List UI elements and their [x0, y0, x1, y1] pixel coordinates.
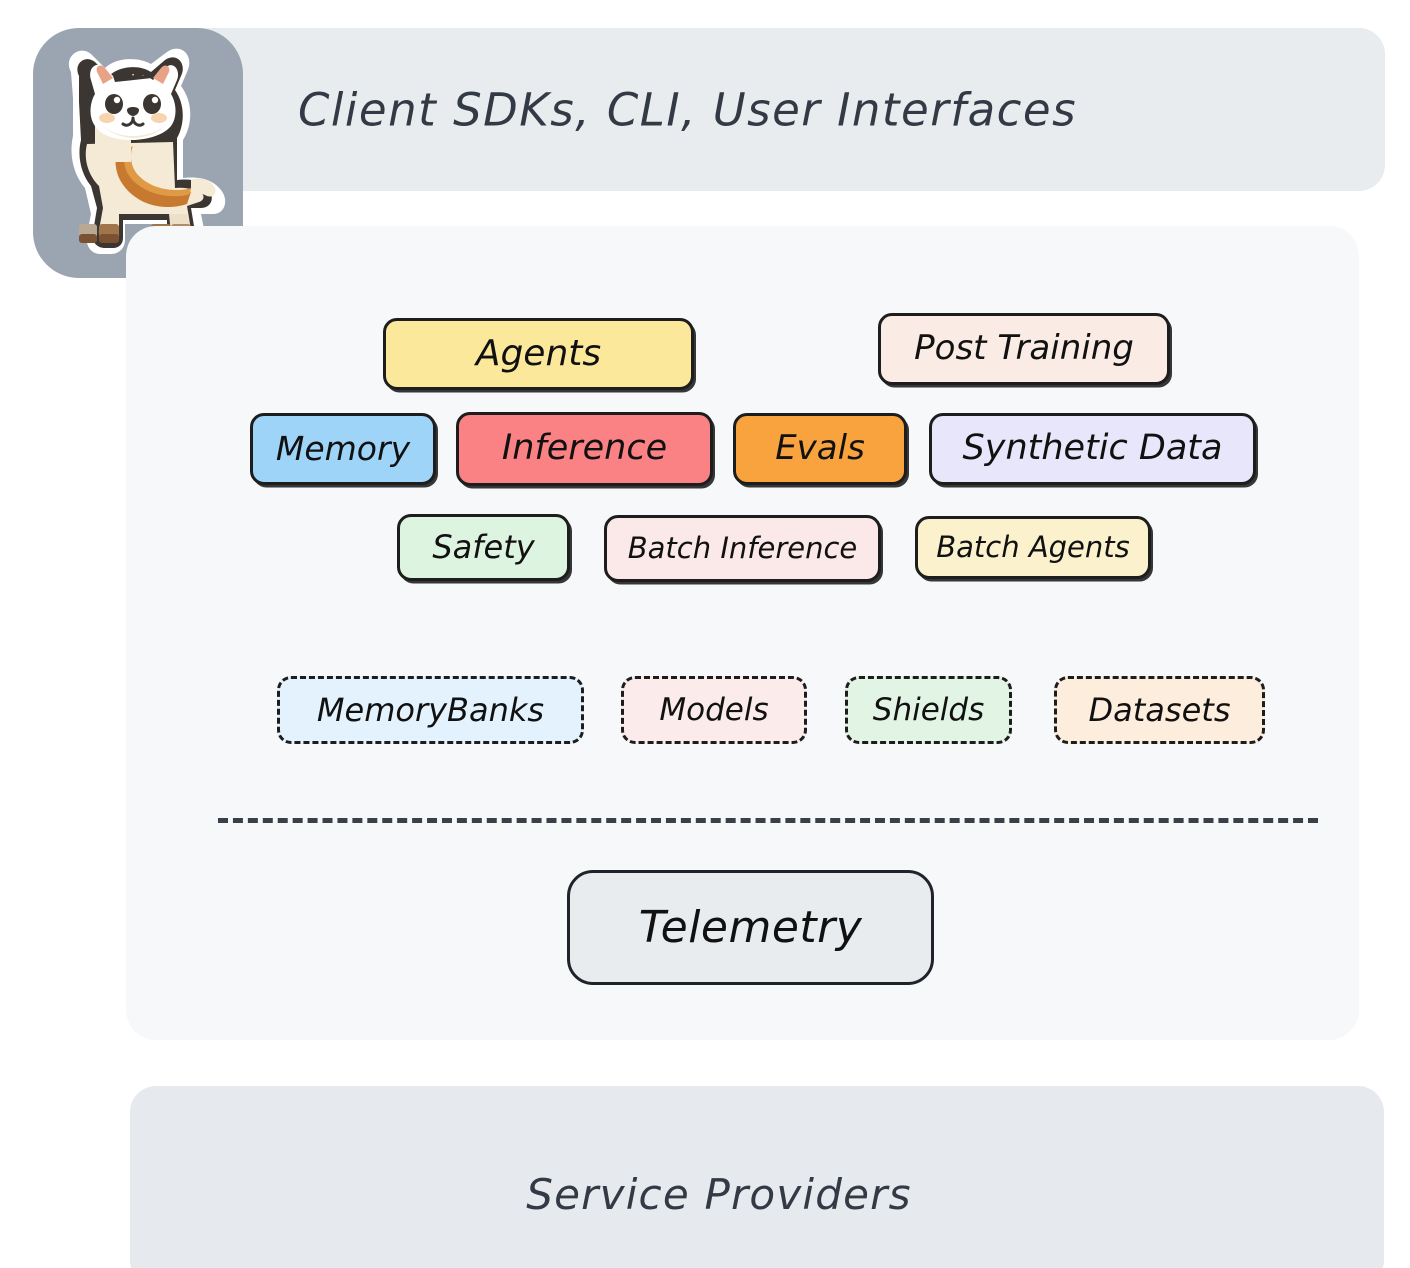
resource-box-shields[interactable]: Shields	[845, 676, 1012, 744]
resource-box-label: Datasets	[1089, 691, 1231, 729]
service-providers-title: Service Providers	[92, 1170, 1346, 1219]
api-box-batch-inference[interactable]: Batch Inference	[604, 515, 881, 582]
api-box-label: Memory	[276, 429, 410, 468]
api-box-label: Batch Agents	[936, 530, 1130, 564]
resource-box-memorybanks[interactable]: MemoryBanks	[277, 676, 584, 744]
client-layer-title: Client SDKs, CLI, User Interfaces	[298, 83, 1077, 136]
client-layer-bar: Client SDKs, CLI, User Interfaces	[128, 28, 1385, 191]
api-box-label: Batch Inference	[628, 531, 858, 565]
api-box-synthetic-data[interactable]: Synthetic Data	[929, 413, 1256, 485]
api-box-memory[interactable]: Memory	[250, 413, 436, 485]
api-box-safety[interactable]: Safety	[397, 514, 570, 581]
api-box-evals[interactable]: Evals	[733, 413, 907, 485]
api-box-agents[interactable]: Agents	[383, 318, 694, 390]
resource-box-label: MemoryBanks	[317, 691, 544, 729]
api-box-label: Evals	[775, 428, 865, 468]
resource-box-label: Models	[659, 692, 768, 728]
api-box-label: Agents	[476, 333, 601, 374]
resource-box-label: Shields	[873, 692, 984, 728]
api-box-label: Synthetic Data	[963, 428, 1223, 468]
api-box-batch-agents[interactable]: Batch Agents	[915, 516, 1151, 579]
api-box-inference[interactable]: Inference	[456, 412, 713, 486]
service-providers-panel: Service Providers	[130, 1086, 1384, 1268]
section-divider	[218, 818, 1318, 823]
api-box-label: Inference	[502, 428, 667, 468]
diagram-canvas: Client SDKs, CLI, User Interfaces	[0, 0, 1410, 1268]
resource-box-models[interactable]: Models	[621, 676, 807, 744]
api-box-label: Post Training	[914, 328, 1134, 368]
api-box-label: Safety	[432, 528, 534, 566]
api-box-post-training[interactable]: Post Training	[878, 313, 1170, 385]
telemetry-box[interactable]: Telemetry	[567, 870, 934, 985]
resource-box-datasets[interactable]: Datasets	[1054, 676, 1265, 744]
